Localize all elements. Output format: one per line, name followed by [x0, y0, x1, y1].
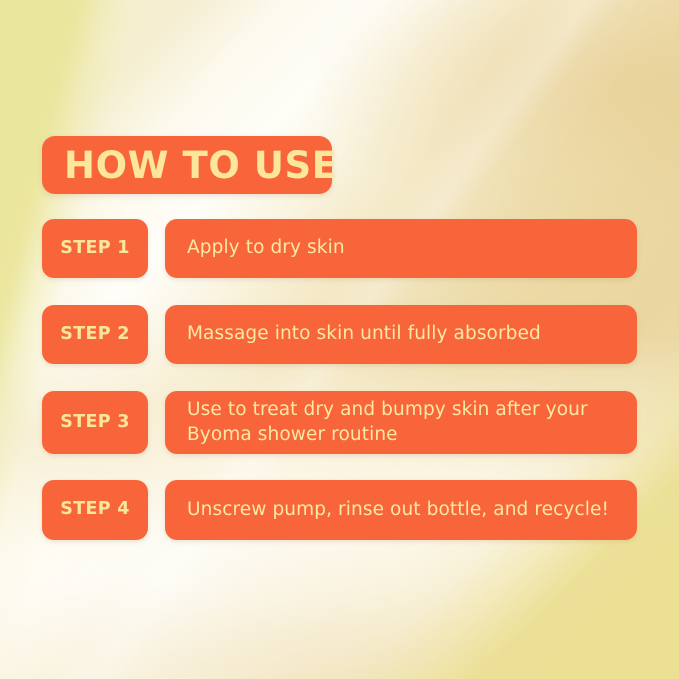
step-badge-2: STEP 2	[42, 305, 148, 364]
step-body-label: Unscrew pump, rinse out bottle, and recy…	[187, 498, 609, 522]
step-body-2: Massage into skin until fully absorbed	[165, 305, 637, 364]
content-layer: HOW TO USE STEP 1 Apply to dry skin STEP…	[0, 0, 679, 679]
step-body-3: Use to treat dry and bumpy skin after yo…	[165, 391, 637, 454]
steps-list: STEP 1 Apply to dry skin STEP 2 Massage …	[42, 219, 637, 540]
step-row: STEP 3 Use to treat dry and bumpy skin a…	[42, 391, 637, 454]
step-badge-label: STEP 1	[60, 240, 129, 258]
page-title-pill: HOW TO USE	[42, 136, 332, 194]
step-body-label: Use to treat dry and bumpy skin after yo…	[187, 398, 588, 447]
step-badge-label: STEP 3	[60, 414, 129, 432]
step-body-4: Unscrew pump, rinse out bottle, and recy…	[165, 480, 637, 540]
how-to-use-infographic: HOW TO USE STEP 1 Apply to dry skin STEP…	[0, 0, 679, 679]
step-row: STEP 4 Unscrew pump, rinse out bottle, a…	[42, 480, 637, 540]
step-badge-3: STEP 3	[42, 391, 148, 454]
page-title: HOW TO USE	[64, 147, 338, 184]
step-badge-label: STEP 2	[60, 326, 129, 344]
step-row: STEP 1 Apply to dry skin	[42, 219, 637, 278]
step-badge-1: STEP 1	[42, 219, 148, 278]
step-body-1: Apply to dry skin	[165, 219, 637, 278]
step-body-label: Massage into skin until fully absorbed	[187, 322, 541, 346]
step-row: STEP 2 Massage into skin until fully abs…	[42, 305, 637, 364]
step-badge-label: STEP 4	[60, 501, 129, 519]
step-body-label: Apply to dry skin	[187, 236, 345, 260]
step-badge-4: STEP 4	[42, 480, 148, 540]
